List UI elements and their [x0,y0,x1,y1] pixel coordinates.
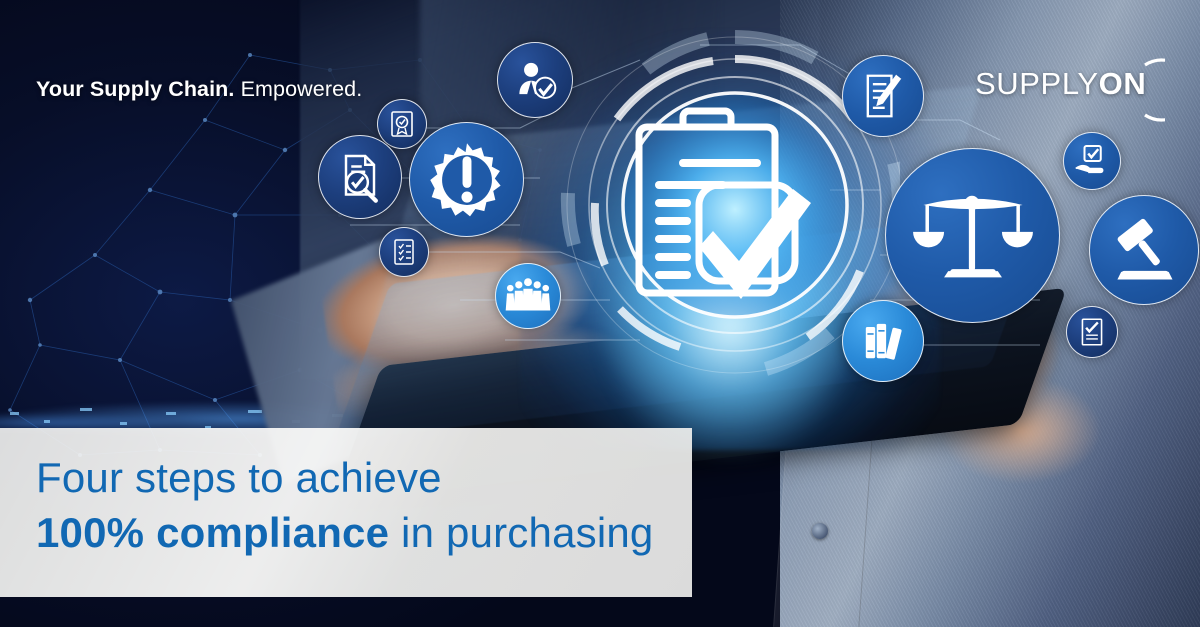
clipboard-checkmark-icon [617,85,847,315]
headline-panel: Four steps to achieve 100% compliance in… [0,428,692,597]
headline-line-2: 100% compliance in purchasing [36,509,653,558]
law-books-icon [842,300,924,382]
document-magnifier-icon [318,135,402,219]
tagline-light: Empowered. [241,77,363,101]
certificate-seal-icon [377,99,427,149]
headline-line-1: Four steps to achieve [36,454,653,503]
document-check-icon [1066,306,1118,358]
headline-block: Four steps to achieve 100% compliance in… [36,454,653,557]
open-circle-ring-icon [1095,55,1165,125]
businessman-verified-icon [497,42,573,118]
tagline-bold: Your Supply Chain. [36,77,235,101]
contract-pen-icon [842,55,924,137]
headline-line-2-rest: in purchasing [401,509,653,556]
tagline: Your Supply Chain. Empowered. [36,77,362,102]
gear-alert-icon [409,122,524,237]
gavel-icon [1089,195,1199,305]
hand-checkbox-icon [1063,132,1121,190]
shirt-button-lower [812,523,828,539]
people-group-icon [495,263,561,329]
headline-emphasis: 100% compliance [36,509,389,556]
checklist-icon [379,227,429,277]
promo-banner: Your Supply Chain. Empowered. SUPPLYON F… [0,0,1200,627]
logo-word-supply: SUPPLY [975,66,1099,101]
scales-justice-icon [885,148,1060,323]
